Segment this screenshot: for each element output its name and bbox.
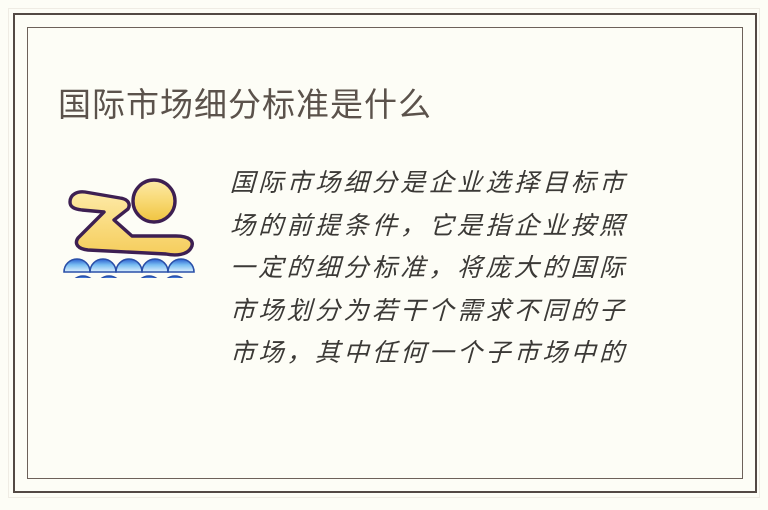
water-waves-group <box>64 259 194 278</box>
page-title: 国际市场细分标准是什么 <box>58 82 432 128</box>
article-content-row: 国际市场细分是企业选择目标市 场的前提条件，它是指企业按照 一定的细分标准，将庞… <box>58 160 678 375</box>
illustration-container <box>58 160 218 278</box>
article-line: 场的前提条件，它是指企业按照 <box>229 205 678 248</box>
article-line: 市场划分为若干个需求不同的子 <box>229 290 678 333</box>
wave-row-top <box>64 259 194 272</box>
swimmer-figure-group <box>70 180 192 255</box>
article-text-block: 国际市场细分是企业选择目标市 场的前提条件，它是指企业按照 一定的细分标准，将庞… <box>218 160 678 375</box>
swimmer-head-shape <box>133 180 175 222</box>
article-card: 国际市场细分标准是什么 <box>0 0 768 510</box>
article-line: 一定的细分标准，将庞大的国际 <box>229 247 678 290</box>
swimmer-icon <box>58 168 203 278</box>
article-line: 国际市场细分是企业选择目标市 <box>229 162 678 205</box>
article-line: 市场，其中任何一个子市场中的 <box>229 332 678 375</box>
wave-row-bottom <box>70 276 188 278</box>
